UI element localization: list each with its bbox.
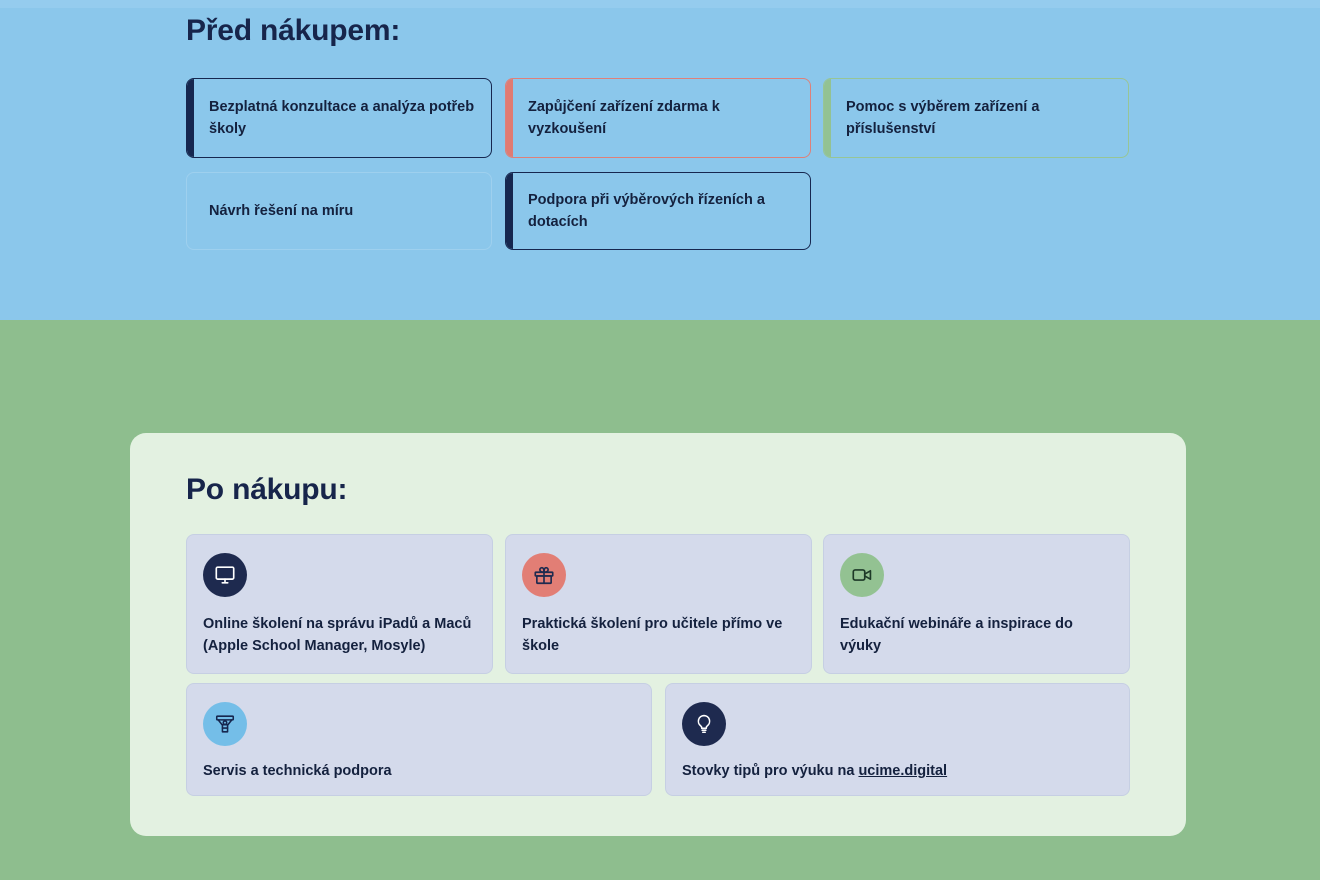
card-label-text: Stovky tipů pro výuku na — [682, 763, 858, 779]
card-accent-bar — [187, 79, 194, 157]
card-prakticka-skoleni[interactable]: Praktická školení pro učitele přímo ve š… — [505, 534, 812, 674]
card-label: Pomoc s výběrem zařízení a příslušenství — [824, 96, 1128, 140]
card-accent-bar — [506, 173, 513, 249]
card-accent-bar — [506, 79, 513, 157]
page-title-before: Před nákupem: — [186, 14, 400, 48]
page-title-after: Po nákupu: — [186, 473, 347, 507]
ucime-digital-link[interactable]: ucime.digital — [858, 763, 947, 779]
card-konzultace[interactable]: Bezplatná konzultace a analýza potřeb šk… — [186, 78, 492, 158]
card-label: Edukační webináře a inspirace do výuky — [840, 613, 1113, 657]
card-vyber-zarizeni[interactable]: Pomoc s výběrem zařízení a příslušenství — [823, 78, 1129, 158]
card-label: Návrh řešení na míru — [187, 200, 491, 222]
card-podpora-rizeni[interactable]: Podpora při výběrových řízeních a dotací… — [505, 172, 811, 250]
gift-icon — [522, 553, 566, 597]
section-before-purchase: Před nákupem: Bezplatná konzultace a ana… — [0, 0, 1320, 320]
card-zapujceni[interactable]: Zapůjčení zařízení zdarma k vyzkoušení — [505, 78, 811, 158]
desktop-computer-icon — [203, 553, 247, 597]
card-accent-bar — [824, 79, 831, 157]
card-accent-bar — [187, 173, 194, 249]
page-root: Před nákupem: Bezplatná konzultace a ana… — [0, 0, 1320, 880]
tool-support-icon — [203, 702, 247, 746]
lightbulb-icon — [682, 702, 726, 746]
video-camera-icon — [840, 553, 884, 597]
card-online-skoleni[interactable]: Online školení na správu iPadů a Maců (A… — [186, 534, 493, 674]
card-label: Zapůjčení zařízení zdarma k vyzkoušení — [506, 96, 810, 140]
card-stovky-tipu[interactable]: Stovky tipů pro výuku na ucime.digital — [665, 683, 1130, 796]
card-label: Bezplatná konzultace a analýza potřeb šk… — [187, 96, 491, 140]
card-edukacni-webinare[interactable]: Edukační webináře a inspirace do výuky — [823, 534, 1130, 674]
card-servis-podpora[interactable]: Servis a technická podpora — [186, 683, 652, 796]
card-label: Podpora při výběrových řízeních a dotací… — [506, 189, 810, 233]
card-label: Stovky tipů pro výuku na ucime.digital — [682, 760, 1113, 782]
card-navrh-reseni[interactable]: Návrh řešení na míru — [186, 172, 492, 250]
top-band — [0, 0, 1320, 8]
card-label: Servis a technická podpora — [203, 760, 635, 782]
card-label: Praktická školení pro učitele přímo ve š… — [522, 613, 795, 657]
card-label: Online školení na správu iPadů a Maců (A… — [203, 613, 476, 657]
